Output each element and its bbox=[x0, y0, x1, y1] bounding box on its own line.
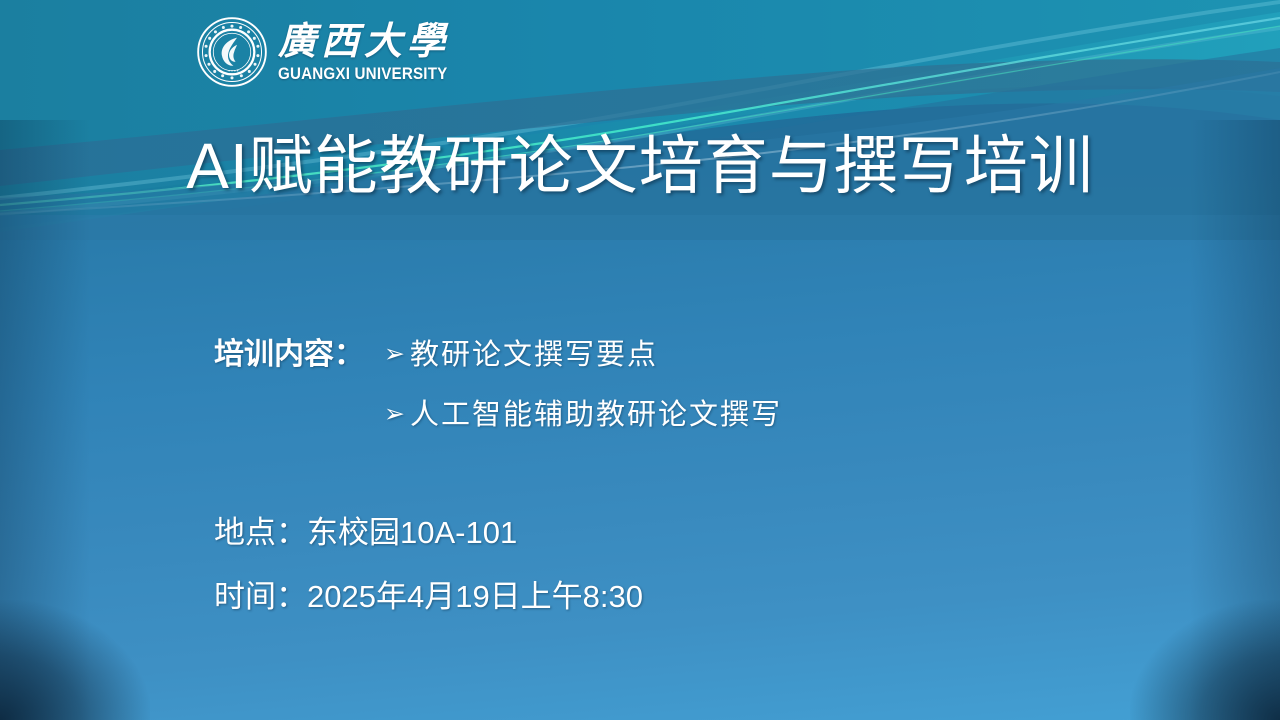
bottom-left-vignette bbox=[0, 600, 150, 720]
presentation-slide: 廣西大學 GUANGXI UNIVERSITY AI赋能教研论文培育与撰写培训 … bbox=[0, 0, 1280, 720]
arrow-bullet-icon: ➢ bbox=[384, 401, 405, 426]
logo-wordmark: 廣西大學 GUANGXI UNIVERSITY bbox=[278, 22, 462, 83]
list-item: ➢ 人工智能辅助教研论文撰写 bbox=[384, 397, 782, 432]
decorative-swoosh-banner bbox=[0, 0, 1280, 240]
event-time: 时间：2025年4月19日上午8:30 bbox=[214, 578, 1174, 617]
guangxi-university-seal-icon bbox=[196, 16, 268, 88]
logo-name-en: GUANGXI UNIVERSITY bbox=[278, 66, 447, 83]
list-item-label: 教研论文撰写要点 bbox=[410, 337, 658, 372]
slide-body: 培训内容： ➢ 教研论文撰写要点 ➢ 人工智能辅助教研论文撰写 地点：东校园10… bbox=[214, 336, 1174, 617]
bottom-right-vignette bbox=[1130, 600, 1280, 720]
logo-name-cn: 廣西大學 bbox=[278, 22, 450, 60]
training-content-row: 培训内容： ➢ 教研论文撰写要点 ➢ 人工智能辅助教研论文撰写 bbox=[214, 336, 1174, 432]
list-item-label: 人工智能辅助教研论文撰写 bbox=[410, 397, 782, 432]
training-content-label: 培训内容： bbox=[214, 336, 364, 374]
slide-title: AI赋能教研论文培育与撰写培训 bbox=[0, 133, 1280, 200]
list-item: ➢ 教研论文撰写要点 bbox=[384, 337, 782, 372]
event-location: 地点：东校园10A-101 bbox=[214, 514, 1174, 553]
training-content-list: ➢ 教研论文撰写要点 ➢ 人工智能辅助教研论文撰写 bbox=[384, 336, 782, 432]
arrow-bullet-icon: ➢ bbox=[384, 341, 405, 366]
university-logo: 廣西大學 GUANGXI UNIVERSITY bbox=[196, 16, 462, 88]
